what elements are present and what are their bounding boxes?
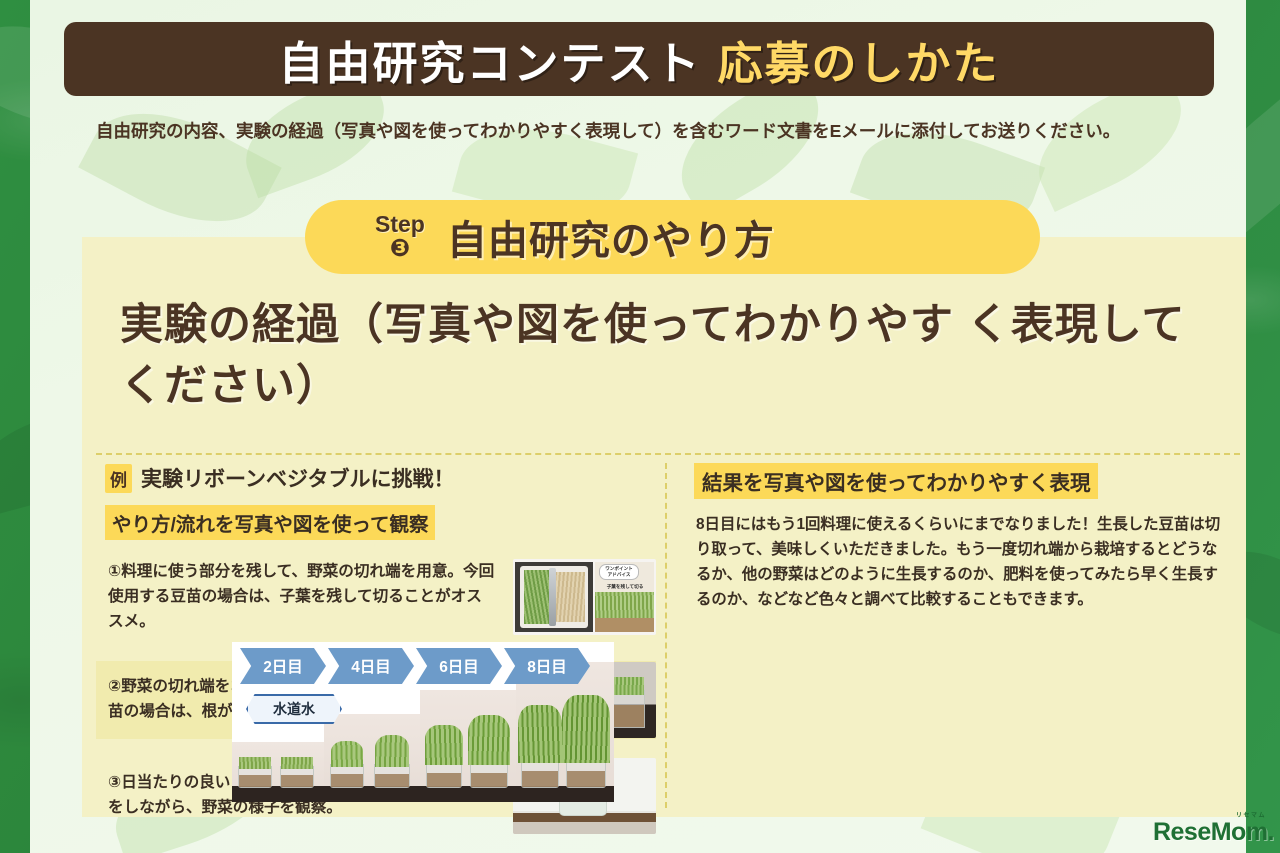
step-number-group: Step ❸ — [375, 213, 425, 261]
timeline-day-label: 4日目 — [351, 655, 391, 677]
result-paragraph: 8日目にはもう1回料理に使えるくらいにまでなりました！生長した豆苗は切り取って、… — [696, 513, 1221, 613]
method-band-label: やり方/流れを写真や図を使って観察 — [105, 505, 435, 540]
photo-advice-bubble: ワンポイント アドバイス — [599, 564, 639, 579]
step-title: 自由研究のやり方 — [447, 208, 775, 266]
method-step-photo: ワンポイント アドバイス 子葉を残して切る — [513, 559, 656, 635]
water-type-label: 水道水 — [246, 694, 342, 724]
photo-cutting-board — [515, 562, 593, 632]
page-title-secondary: 応募のしかた — [718, 27, 1000, 92]
method-band-wrap: やり方/流れを写真や図を使って観察 — [96, 505, 656, 540]
example-heading: 例 実験リボーンベジタブルに挑戦！ — [105, 463, 656, 493]
example-badge: 例 — [105, 464, 132, 493]
right-column: 結果を写真や図を使ってわかりやすく表現 8日目にはもう1回料理に使えるくらいにま… — [682, 463, 1240, 613]
timeline-photo-day4 — [324, 714, 420, 802]
timeline-photo-day2 — [232, 742, 324, 802]
horizontal-divider — [96, 453, 1240, 455]
photo-label: 子葉を残して切る — [598, 584, 652, 590]
panel-heading: 実験の経過（写真や図を使ってわかりやす く表現してください） — [120, 295, 1210, 417]
chevron-right-icon: 2日目 — [240, 648, 326, 684]
chevron-right-icon: 4日目 — [328, 648, 414, 684]
content-panel: 実験の経過（写真や図を使ってわかりやす く表現してください） 例 実験リボーンベ… — [82, 237, 1246, 817]
page-title-primary: 自由研究コンテスト — [278, 27, 701, 92]
step-number: ❸ — [390, 237, 410, 261]
timeline-day-label: 8日目 — [527, 655, 567, 677]
photo-closeup: ワンポイント アドバイス 子葉を残して切る — [595, 562, 654, 632]
timeline-day-label: 2日目 — [263, 655, 303, 677]
logo-wordmark: ReseMom. — [1153, 820, 1274, 845]
method-step-text: ①料理に使う部分を残して、野菜の切れ端を用意。今回使用する豆苗の場合は、子葉を残… — [96, 552, 496, 643]
method-step-row: ①料理に使う部分を残して、野菜の切れ端を用意。今回使用する豆苗の場合は、子葉を残… — [96, 552, 656, 643]
page-title-bar: 自由研究コンテスト 応募のしかた — [64, 22, 1214, 96]
vertical-divider — [665, 463, 667, 808]
timeline-day-label: 6日目 — [439, 655, 479, 677]
growth-timeline-photo: 2日目 4日目 6日目 8日目 水道水 — [232, 642, 614, 802]
main-card: 自由研究コンテスト 応募のしかた 自由研究の内容、実験の経過（写真や図を使ってわ… — [30, 0, 1246, 853]
example-title: 実験リボーンベジタブルに挑戦！ — [141, 463, 455, 493]
lead-paragraph: 自由研究の内容、実験の経過（写真や図を使ってわかりやすく表現して）を含むワード文… — [96, 116, 1216, 147]
photo-label: アドバイス — [602, 572, 636, 578]
result-band-label: 結果を写真や図を使ってわかりやすく表現 — [694, 463, 1098, 499]
timeline-day-chevrons: 2日目 4日目 6日目 8日目 — [240, 648, 590, 684]
timeline-photo-day6 — [420, 690, 516, 802]
step-header-pill: Step ❸ 自由研究のやり方 — [305, 200, 1040, 274]
chevron-right-icon: 6日目 — [416, 648, 502, 684]
photo-planter — [559, 800, 607, 816]
resemom-logo: リセマム ReseMom. — [1153, 813, 1274, 845]
chevron-right-icon: 8日目 — [504, 648, 590, 684]
step-word: Step — [375, 213, 425, 236]
